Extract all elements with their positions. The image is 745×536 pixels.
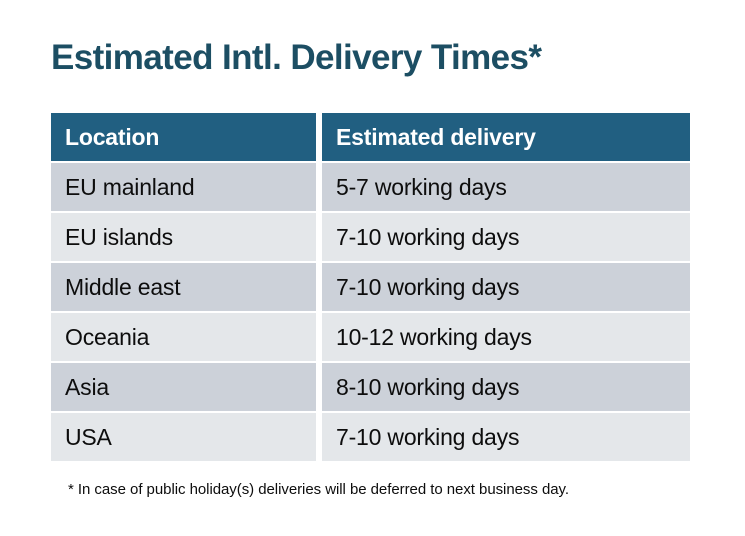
- table-row: Oceania 10-12 working days: [51, 313, 690, 361]
- table-row: EU islands 7-10 working days: [51, 213, 690, 261]
- column-header-location: Location: [51, 113, 316, 161]
- table-row: Asia 8-10 working days: [51, 363, 690, 411]
- table-row: Middle east 7-10 working days: [51, 263, 690, 311]
- cell-estimated-delivery: 7-10 working days: [322, 213, 690, 261]
- cell-location: Middle east: [51, 263, 316, 311]
- cell-estimated-delivery: 7-10 working days: [322, 263, 690, 311]
- cell-estimated-delivery: 7-10 working days: [322, 413, 690, 461]
- table-row: EU mainland 5-7 working days: [51, 163, 690, 211]
- page-title: Estimated Intl. Delivery Times*: [51, 36, 541, 80]
- cell-location: EU mainland: [51, 163, 316, 211]
- column-header-estimated-delivery: Estimated delivery: [322, 113, 690, 161]
- cell-estimated-delivery: 8-10 working days: [322, 363, 690, 411]
- table-header-row: Location Estimated delivery: [51, 113, 690, 161]
- delivery-times-table: Location Estimated delivery EU mainland …: [51, 113, 690, 461]
- footnote: * In case of public holiday(s) deliverie…: [68, 481, 569, 498]
- cell-estimated-delivery: 10-12 working days: [322, 313, 690, 361]
- delivery-times-page: Estimated Intl. Delivery Times* Location…: [0, 0, 745, 536]
- cell-location: USA: [51, 413, 316, 461]
- cell-location: Oceania: [51, 313, 316, 361]
- cell-location: Asia: [51, 363, 316, 411]
- cell-location: EU islands: [51, 213, 316, 261]
- cell-estimated-delivery: 5-7 working days: [322, 163, 690, 211]
- table-row: USA 7-10 working days: [51, 413, 690, 461]
